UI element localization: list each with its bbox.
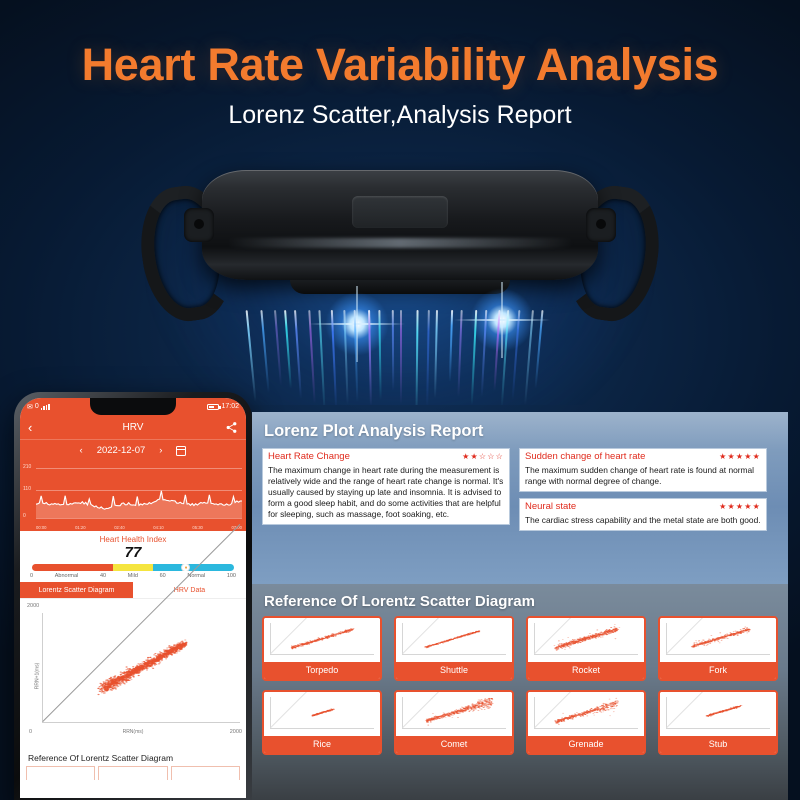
- scatter-y-title: RRN+1(ms): [34, 663, 40, 690]
- share-icon[interactable]: [225, 421, 238, 434]
- scatter-points: [43, 613, 240, 722]
- light-ray: [457, 310, 462, 397]
- signal-icon: [41, 404, 50, 410]
- scatter-x-title: RRN(ms): [20, 729, 246, 735]
- reference-label: Torpedo: [264, 662, 380, 679]
- light-ray: [534, 310, 543, 388]
- reference-axes: [534, 623, 638, 655]
- reference-panel: Reference Of Lorentz Scatter Diagram Tor…: [252, 584, 788, 800]
- reference-points: [667, 623, 770, 654]
- hrv-y-tick-2: 0: [23, 513, 26, 519]
- light-ray: [260, 310, 269, 392]
- phone-reference-row: [20, 766, 246, 780]
- report-card-text: The cardiac stress capability and the me…: [520, 513, 766, 530]
- light-ray: [400, 310, 402, 404]
- phone-tab-lorentz-scatter-diagram[interactable]: Lorentz Scatter Diagram: [20, 582, 133, 598]
- light-ray: [426, 310, 430, 405]
- report-card-text: The maximum sudden change of heart rate …: [520, 463, 766, 491]
- hhi-scale-labels: 0Abnormal40Mild60Normal100: [28, 571, 238, 579]
- reference-title: Reference Of Lorentz Scatter Diagram: [264, 593, 778, 610]
- hhi-scale-label: 100: [227, 573, 236, 579]
- reference-plot: [660, 692, 776, 736]
- report-card-rating: ★★★★★: [719, 452, 761, 461]
- phone-status-bar: ✉ 0 17:02: [20, 398, 246, 415]
- light-ray: [392, 310, 394, 391]
- status-time: 17:02: [221, 403, 239, 410]
- phone-reference-cell[interactable]: [26, 766, 95, 780]
- reference-label: Rocket: [528, 662, 644, 679]
- report-card-text: The maximum change in heart rate during …: [263, 463, 509, 524]
- phone-reference-title: Reference Of Lorentz Scatter Diagram: [20, 747, 246, 766]
- hrv-x-axis: 00:0001:2002:4004:1005:3007:00: [36, 525, 242, 530]
- reference-grid: Torpedo Shuttle Rocket: [262, 616, 778, 755]
- back-icon[interactable]: ‹: [28, 421, 32, 434]
- reference-label: Shuttle: [396, 662, 512, 679]
- reference-points: [403, 623, 506, 654]
- reference-item-fork[interactable]: Fork: [658, 616, 778, 681]
- light-ray: [470, 310, 476, 405]
- band-case: [202, 170, 598, 280]
- phone-nav-bar: ‹ HRV: [20, 415, 246, 439]
- hhi-segment-abnormal: [32, 564, 113, 571]
- scatter-y-max: 2000: [27, 603, 39, 609]
- reference-item-rocket[interactable]: Rocket: [526, 616, 646, 681]
- message-icon: ✉: [27, 403, 33, 411]
- hhi-meter: ♦: [32, 564, 234, 571]
- light-ray: [480, 310, 487, 397]
- report-card-heart-rate-change: Heart Rate Change ★★☆☆☆ The maximum chan…: [262, 448, 510, 525]
- light-ray: [294, 310, 302, 399]
- reference-axes: [270, 623, 374, 655]
- reference-plot: [528, 618, 644, 662]
- report-card-rating: ★★☆☆☆: [462, 452, 504, 461]
- page-header: Heart Rate Variability Analysis Lorenz S…: [0, 0, 800, 152]
- reference-plot: [396, 618, 512, 662]
- light-ray: [434, 310, 438, 398]
- notification-count: 0: [35, 403, 39, 410]
- light-ray: [318, 310, 325, 405]
- light-ray: [309, 310, 316, 404]
- reference-points: [535, 697, 638, 728]
- light-ray: [415, 310, 418, 405]
- light-ray: [379, 310, 382, 400]
- reference-label: Comet: [396, 736, 512, 753]
- reference-label: Rice: [264, 736, 380, 753]
- report-card-neural-state: Neural state ★★★★★ The cardiac stress ca…: [519, 498, 767, 531]
- report-card-rating: ★★★★★: [719, 502, 761, 511]
- reference-axes: [666, 697, 770, 729]
- reference-points: [667, 697, 770, 728]
- phone-tab-hrv-data[interactable]: HRV Data: [133, 582, 246, 598]
- scatter-x-max: 2000: [230, 729, 242, 735]
- heart-health-index: Heart Health Index 77 ♦ 0Abnormal40Mild6…: [20, 531, 246, 582]
- reference-item-torpedo[interactable]: Torpedo: [262, 616, 382, 681]
- hhi-scale-label: 0: [30, 573, 33, 579]
- hhi-meter-knob[interactable]: ♦: [181, 564, 190, 571]
- reference-item-stub[interactable]: Stub: [658, 690, 778, 755]
- hhi-scale-label: 60: [160, 573, 166, 579]
- phone-reference-cell[interactable]: [171, 766, 240, 780]
- phone-mockup: ✉ 0 17:02 ‹ HRV ‹ 2022-12-07 ›: [14, 392, 252, 800]
- reference-points: [271, 697, 374, 728]
- reference-label: Stub: [660, 736, 776, 753]
- page-title: Heart Rate Variability Analysis: [0, 42, 800, 87]
- band-lug-right: [586, 208, 616, 242]
- hhi-segment-mild: [113, 564, 153, 571]
- reference-points: [403, 697, 506, 728]
- lorenz-report-panel: Lorenz Plot Analysis Report Heart Rate C…: [252, 412, 788, 584]
- reference-plot: [528, 692, 644, 736]
- light-ray: [524, 310, 534, 405]
- reference-item-rice[interactable]: Rice: [262, 690, 382, 755]
- scatter-plot-area: [42, 613, 240, 723]
- hhi-scale-label: Abnormal: [55, 573, 79, 579]
- report-card-name: Neural state: [525, 501, 576, 512]
- hhi-title: Heart Health Index: [28, 535, 238, 544]
- reference-axes: [402, 623, 506, 655]
- light-ray: [512, 310, 521, 400]
- reference-axes: [534, 697, 638, 729]
- battery-icon: [207, 404, 219, 410]
- band-screen: [352, 196, 448, 228]
- hrv-x-tick: 05:30: [192, 525, 202, 530]
- reference-plot: [264, 618, 380, 662]
- hhi-scale-label: Mild: [128, 573, 138, 579]
- reference-plot: [660, 618, 776, 662]
- reference-axes: [666, 623, 770, 655]
- fitness-band-icon: [150, 164, 650, 304]
- nav-title: HRV: [20, 422, 246, 433]
- selected-date: 2022-12-07: [97, 445, 146, 456]
- reference-item-shuttle[interactable]: Shuttle: [394, 616, 514, 681]
- hrv-x-tick: 01:20: [75, 525, 85, 530]
- phone-reference-cell[interactable]: [98, 766, 167, 780]
- reference-item-comet[interactable]: Comet: [394, 690, 514, 755]
- lorentz-scatter-chart: 2000 RRN+1(ms) 0 RRN(ms) 2000: [20, 599, 246, 747]
- reference-label: Grenade: [528, 736, 644, 753]
- hero-device-image: [0, 150, 800, 405]
- report-card-sudden-change: Sudden change of heart rate ★★★★★ The ma…: [519, 448, 767, 492]
- hrv-y-tick-1: 110: [23, 486, 31, 492]
- reference-axes: [270, 697, 374, 729]
- hhi-scale-label: 40: [100, 573, 106, 579]
- calendar-icon[interactable]: [176, 446, 186, 456]
- light-ray: [494, 310, 501, 391]
- light-ray: [368, 310, 372, 405]
- light-ray: [501, 310, 509, 405]
- report-card-name: Sudden change of heart rate: [525, 451, 645, 462]
- light-rays: [210, 310, 590, 405]
- light-ray: [246, 310, 257, 401]
- reference-plot: [396, 692, 512, 736]
- hhi-value: 77: [28, 544, 238, 562]
- light-ray: [343, 310, 348, 405]
- reference-points: [271, 623, 374, 654]
- hrv-x-tick: 04:10: [153, 525, 163, 530]
- light-ray: [449, 310, 453, 382]
- phone-notch: [90, 398, 176, 415]
- reference-label: Fork: [660, 662, 776, 679]
- reference-axes: [402, 697, 506, 729]
- report-card-name: Heart Rate Change: [268, 451, 350, 462]
- reference-points: [535, 623, 638, 654]
- date-prev-button[interactable]: ‹: [80, 445, 83, 456]
- hrv-waveform: [36, 476, 242, 518]
- report-title: Lorenz Plot Analysis Report: [264, 422, 778, 441]
- phone-tab-bar[interactable]: Lorentz Scatter DiagramHRV Data: [20, 582, 246, 599]
- reference-plot: [264, 692, 380, 736]
- light-ray: [284, 310, 292, 389]
- light-ray: [274, 310, 282, 386]
- date-selector[interactable]: ‹ 2022-12-07 ›: [20, 439, 246, 461]
- band-sensor-strip: [290, 280, 510, 294]
- hrv-line-chart: 210 110 0 00:0001:2002:4004:1005:3007:00: [20, 461, 246, 531]
- band-lug-left: [184, 208, 214, 242]
- phone-screen: ✉ 0 17:02 ‹ HRV ‹ 2022-12-07 ›: [20, 398, 246, 798]
- light-ray: [331, 310, 337, 405]
- hrv-x-tick: 00:00: [36, 525, 46, 530]
- page-subtitle: Lorenz Scatter,Analysis Report: [0, 103, 800, 128]
- date-next-button[interactable]: ›: [159, 445, 162, 456]
- hrv-x-tick: 02:40: [114, 525, 124, 530]
- reference-item-grenade[interactable]: Grenade: [526, 690, 646, 755]
- light-ray: [353, 310, 358, 402]
- hrv-y-tick-0: 210: [23, 464, 31, 470]
